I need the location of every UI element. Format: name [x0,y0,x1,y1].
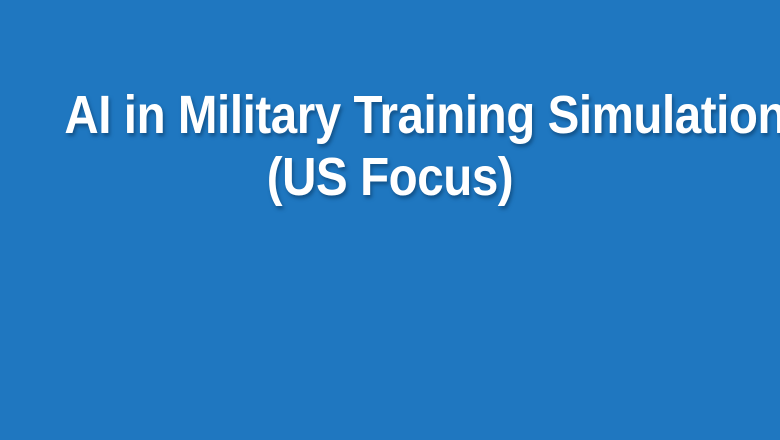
title-line-1: AI in Military Training Simulations [64,84,715,146]
title-slide: AI in Military Training Simulations (US … [0,0,780,440]
title-line-2: (US Focus) [64,146,715,208]
page-title: AI in Military Training Simulations (US … [20,84,760,208]
